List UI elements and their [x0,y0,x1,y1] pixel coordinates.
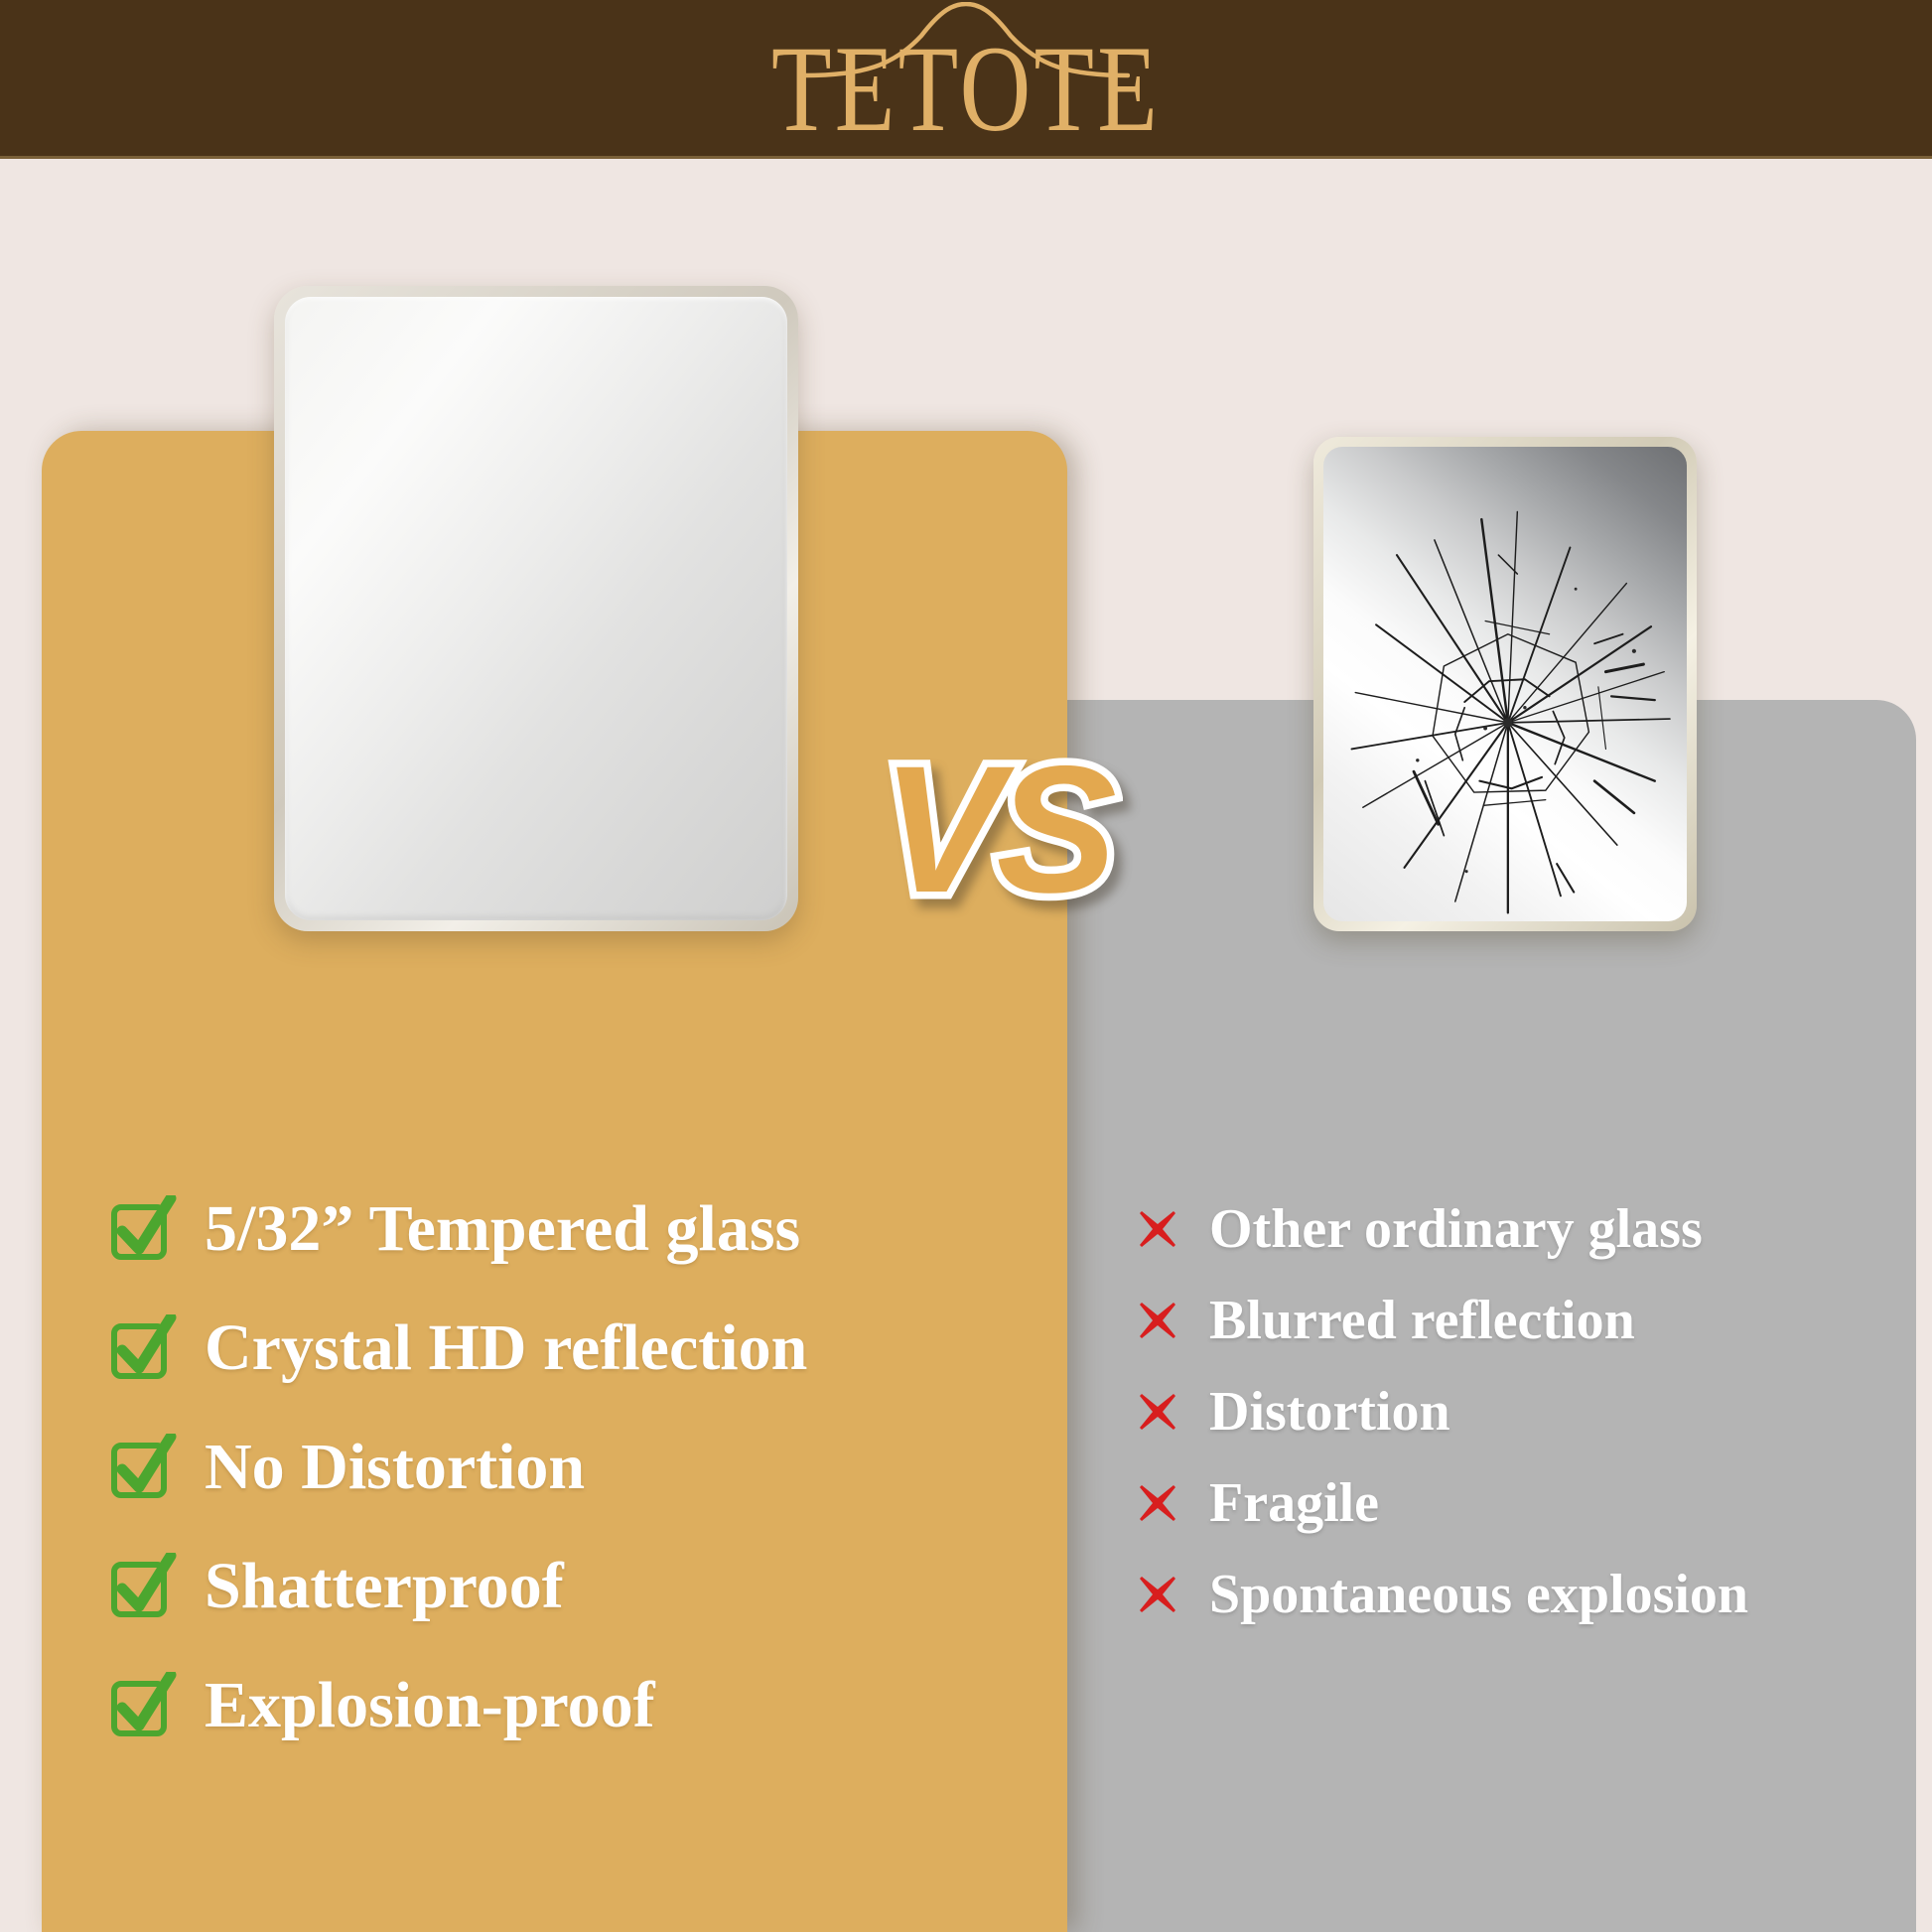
list-item-label: Shatterproof [205,1549,564,1624]
check-box-icon [109,1314,177,1382]
list-item-label: Other ordinary glass [1209,1197,1703,1261]
check-box-icon [109,1195,177,1263]
intact-mirror-image [274,286,798,931]
good-features-list: 5/32” Tempered glass Crystal HD reflecti… [109,1170,1003,1765]
x-mark-icon [1132,1386,1183,1438]
check-box-icon [109,1553,177,1620]
list-item: Other ordinary glass [1132,1183,1916,1275]
crack-pattern-icon [1323,447,1687,921]
bad-features-list: Other ordinary glass Blurred reflection … [1132,1183,1916,1640]
list-item-label: Spontaneous explosion [1209,1563,1748,1626]
list-item: Shatterproof [109,1527,1003,1646]
cracked-mirror-image [1313,437,1697,931]
x-mark-icon [1132,1295,1183,1346]
check-box-icon [109,1434,177,1501]
x-mark-icon [1132,1203,1183,1255]
list-item-label: Distortion [1209,1380,1450,1444]
list-item: Fragile [1132,1457,1916,1549]
list-item-label: Fragile [1209,1471,1379,1535]
list-item: 5/32” Tempered glass [109,1170,1003,1289]
brand-header: TETOTE [0,0,1932,159]
x-mark-icon [1132,1477,1183,1529]
list-item-label: Crystal HD reflection [205,1311,807,1386]
check-box-icon [109,1672,177,1739]
mirror-glass-surface [1323,447,1687,921]
x-mark-icon [1132,1569,1183,1620]
list-item: Crystal HD reflection [109,1289,1003,1408]
list-item: Blurred reflection [1132,1275,1916,1366]
list-item-label: 5/32” Tempered glass [205,1191,800,1267]
brand-wordmark: TETOTE [759,30,1173,148]
list-item-label: No Distortion [205,1430,585,1505]
list-item-label: Explosion-proof [205,1668,655,1743]
list-item: Explosion-proof [109,1646,1003,1765]
list-item: No Distortion [109,1408,1003,1527]
list-item-label: Blurred reflection [1209,1289,1635,1352]
vs-badge: VS [882,739,1111,919]
list-item: Spontaneous explosion [1132,1549,1916,1640]
list-item: Distortion [1132,1366,1916,1457]
brand-logo: TETOTE [708,4,1224,153]
mirror-glass-surface [285,297,787,920]
